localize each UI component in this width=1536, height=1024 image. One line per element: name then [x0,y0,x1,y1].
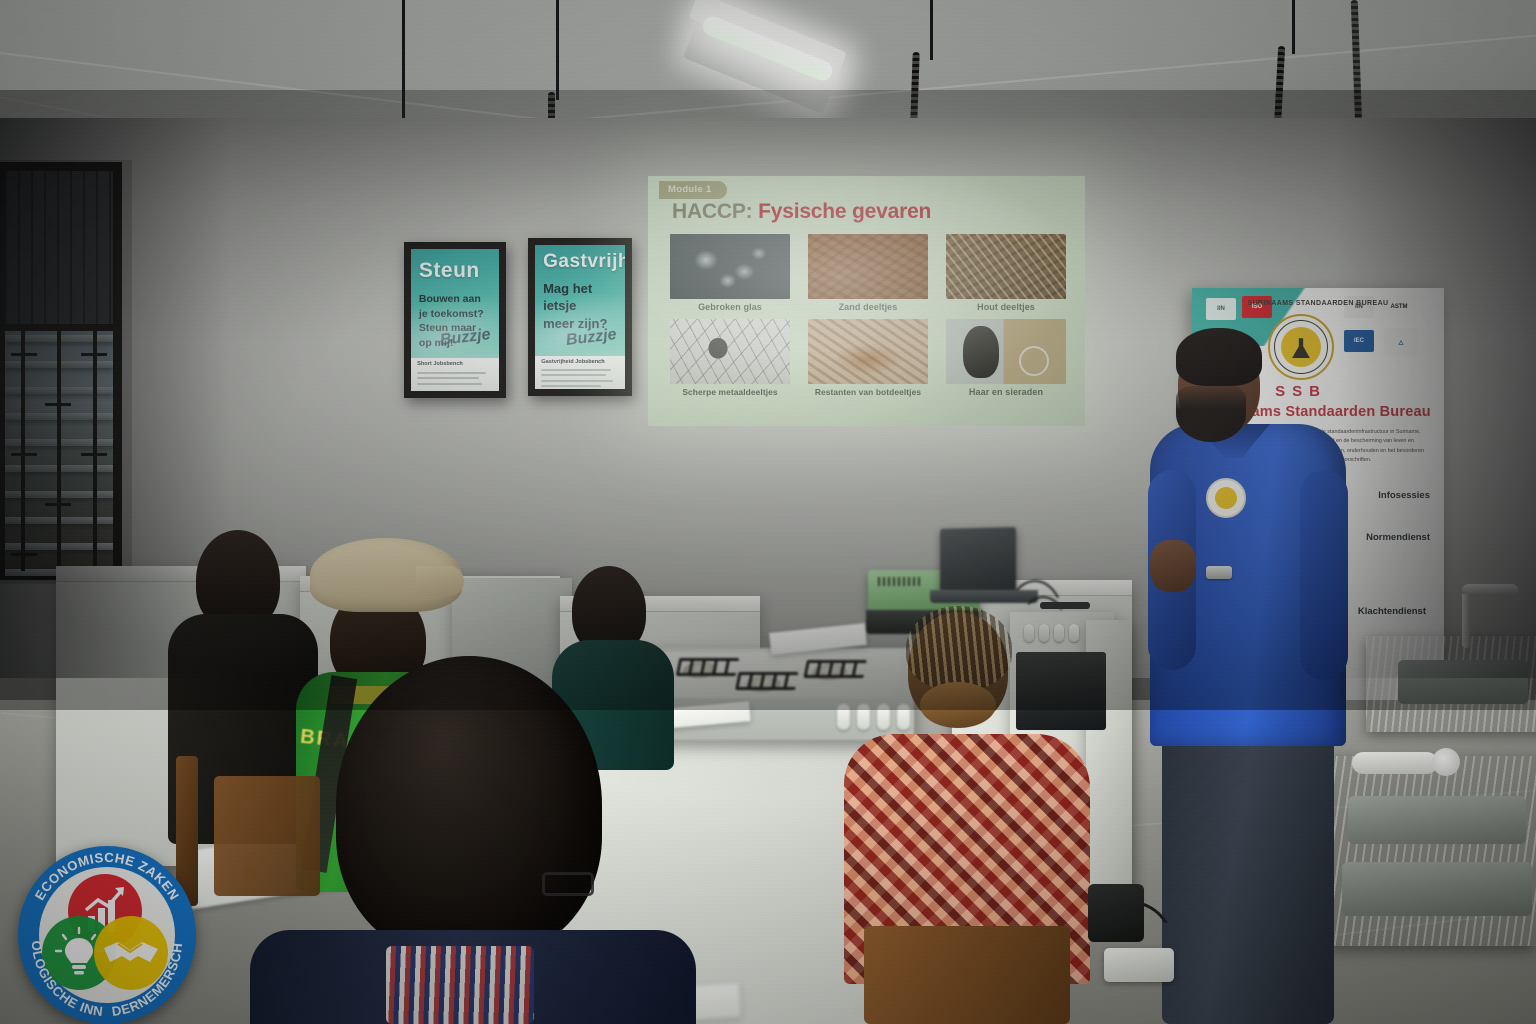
sink-trap-pipe [1352,752,1438,774]
pendant-cord [556,0,559,100]
chair[interactable] [864,926,1070,1024]
equipment-bag [1088,884,1144,942]
svg-text:ECONOMISCHE ZAKEN: ECONOMISCHE ZAKEN [32,850,182,903]
economische-zaken-logo: ECONOMISCHE ZAKEN TECHNOLOGISCHE INNOVAT… [18,846,196,1024]
classroom-scene: Steun Bouwen aan je toekomst? Steun maar… [0,0,1536,1024]
glasses-icon [542,872,594,896]
chair[interactable] [214,776,320,896]
sink-basin [1348,796,1526,844]
logo-arc-top: ECONOMISCHE ZAKEN [32,850,182,903]
sink-drain-cap [1432,748,1460,776]
shirt-stripe-detail [386,946,534,1024]
pendant-cord [930,0,933,60]
sink-basin [1342,862,1532,916]
presenter-trousers [1162,730,1334,1024]
stainless-sink [1328,756,1536,946]
logo-arc-text: ECONOMISCHE ZAKEN TECHNOLOGISCHE INNOVAT… [18,846,196,1024]
power-adapter [1104,948,1174,982]
pendant-cord [1292,0,1295,54]
